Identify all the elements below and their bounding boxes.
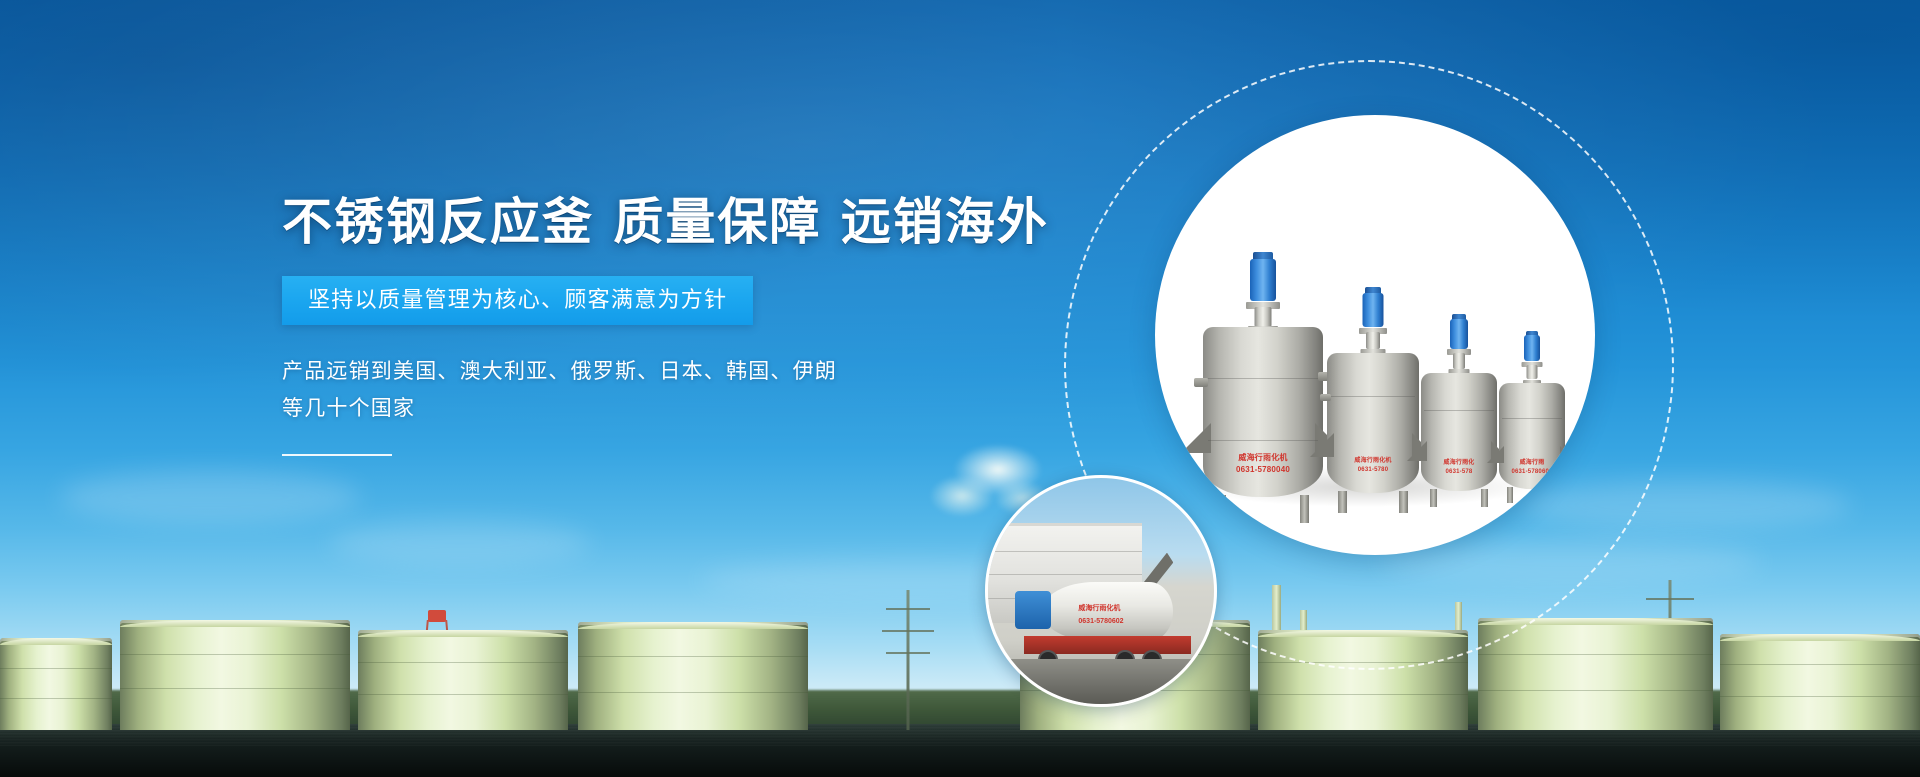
reactor-vessel-2: 威海行雨化机 0631-5780 <box>1327 353 1419 493</box>
banner-text-block: 不锈钢反应釜 质量保障 远销海外 坚持以质量管理为核心、顾客满意为方针 产品远销… <box>282 195 1002 456</box>
reactor-vessel-4: 威海行雨 0631-5780602 <box>1499 383 1565 489</box>
storage-tank-2 <box>358 630 568 730</box>
banner-subtitle-bar: 坚持以质量管理为核心、顾客满意为方针 <box>282 276 753 325</box>
tanker-phone-text: 0631-5780602 <box>1078 618 1123 626</box>
storage-tank-3 <box>578 622 808 730</box>
vessel-2-brand: 威海行雨化机 <box>1354 458 1391 466</box>
tanker-brand-text: 威海行雨化机 <box>1078 605 1120 613</box>
divider-rule <box>282 454 392 456</box>
vessel-2-phone: 0631-5780 <box>1358 467 1389 475</box>
storage-tank-1 <box>120 620 350 730</box>
banner-description: 产品远销到美国、澳大利亚、俄罗斯、日本、韩国、伊朗 等几十个国家 <box>282 353 902 428</box>
vessel-4-brand: 威海行雨 <box>1520 460 1545 468</box>
description-line-1: 产品远销到美国、澳大利亚、俄罗斯、日本、韩国、伊朗 <box>282 353 902 390</box>
inset-ground <box>988 659 1214 704</box>
tanker-photo-circle[interactable]: 威海行雨化机 0631-5780602 <box>985 475 1217 707</box>
power-pylon-1 <box>880 590 936 730</box>
description-line-2: 等几十个国家 <box>282 390 902 427</box>
promotional-banner: 威海行雨化机 0631-5780040 威海行雨化机 0631-5780 <box>0 0 1920 777</box>
truck-cab <box>1015 591 1051 629</box>
cloud-2 <box>330 520 590 566</box>
vessel-3-phone: 0631-578 <box>1446 469 1473 477</box>
vessel-1-phone: 0631-5780040 <box>1236 465 1290 475</box>
cloud-1 <box>60 470 360 524</box>
storage-tank-6 <box>1478 618 1713 730</box>
vessel-3-brand: 威海行雨化 <box>1443 460 1474 468</box>
reactor-vessel-3: 威海行雨化 0631-578 <box>1421 373 1497 491</box>
vessel-1-brand: 威海行雨化机 <box>1238 453 1287 463</box>
reactor-vessel-1: 威海行雨化机 0631-5780040 <box>1203 327 1323 497</box>
vessel-4-phone: 0631-5780602 <box>1511 469 1552 477</box>
product-photo-circle[interactable]: 威海行雨化机 0631-5780040 威海行雨化机 0631-5780 <box>1155 115 1595 555</box>
banner-headline: 不锈钢反应釜 质量保障 远销海外 <box>282 195 1002 249</box>
storage-tank-7 <box>1720 634 1920 730</box>
storage-tank-8 <box>0 638 112 730</box>
